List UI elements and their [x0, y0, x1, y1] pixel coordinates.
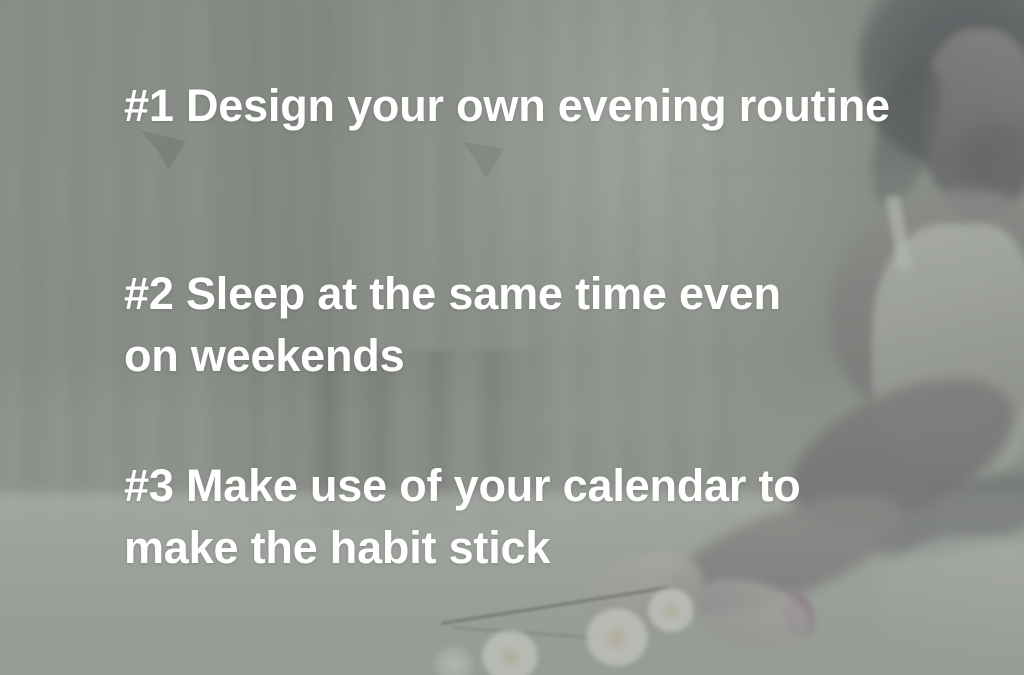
slide-canvas: #1 Design your own evening routine #2 Sl…: [0, 0, 1024, 675]
tip-item-2: #2 Sleep at the same time even on weeken…: [124, 263, 824, 387]
tip-item-1: #1 Design your own evening routine: [124, 75, 914, 137]
face-shadow: [958, 120, 1024, 200]
tip-item-3: #3 Make use of your calendar to make the…: [124, 455, 824, 579]
tips-list: #1 Design your own evening routine #2 Sl…: [124, 0, 914, 675]
